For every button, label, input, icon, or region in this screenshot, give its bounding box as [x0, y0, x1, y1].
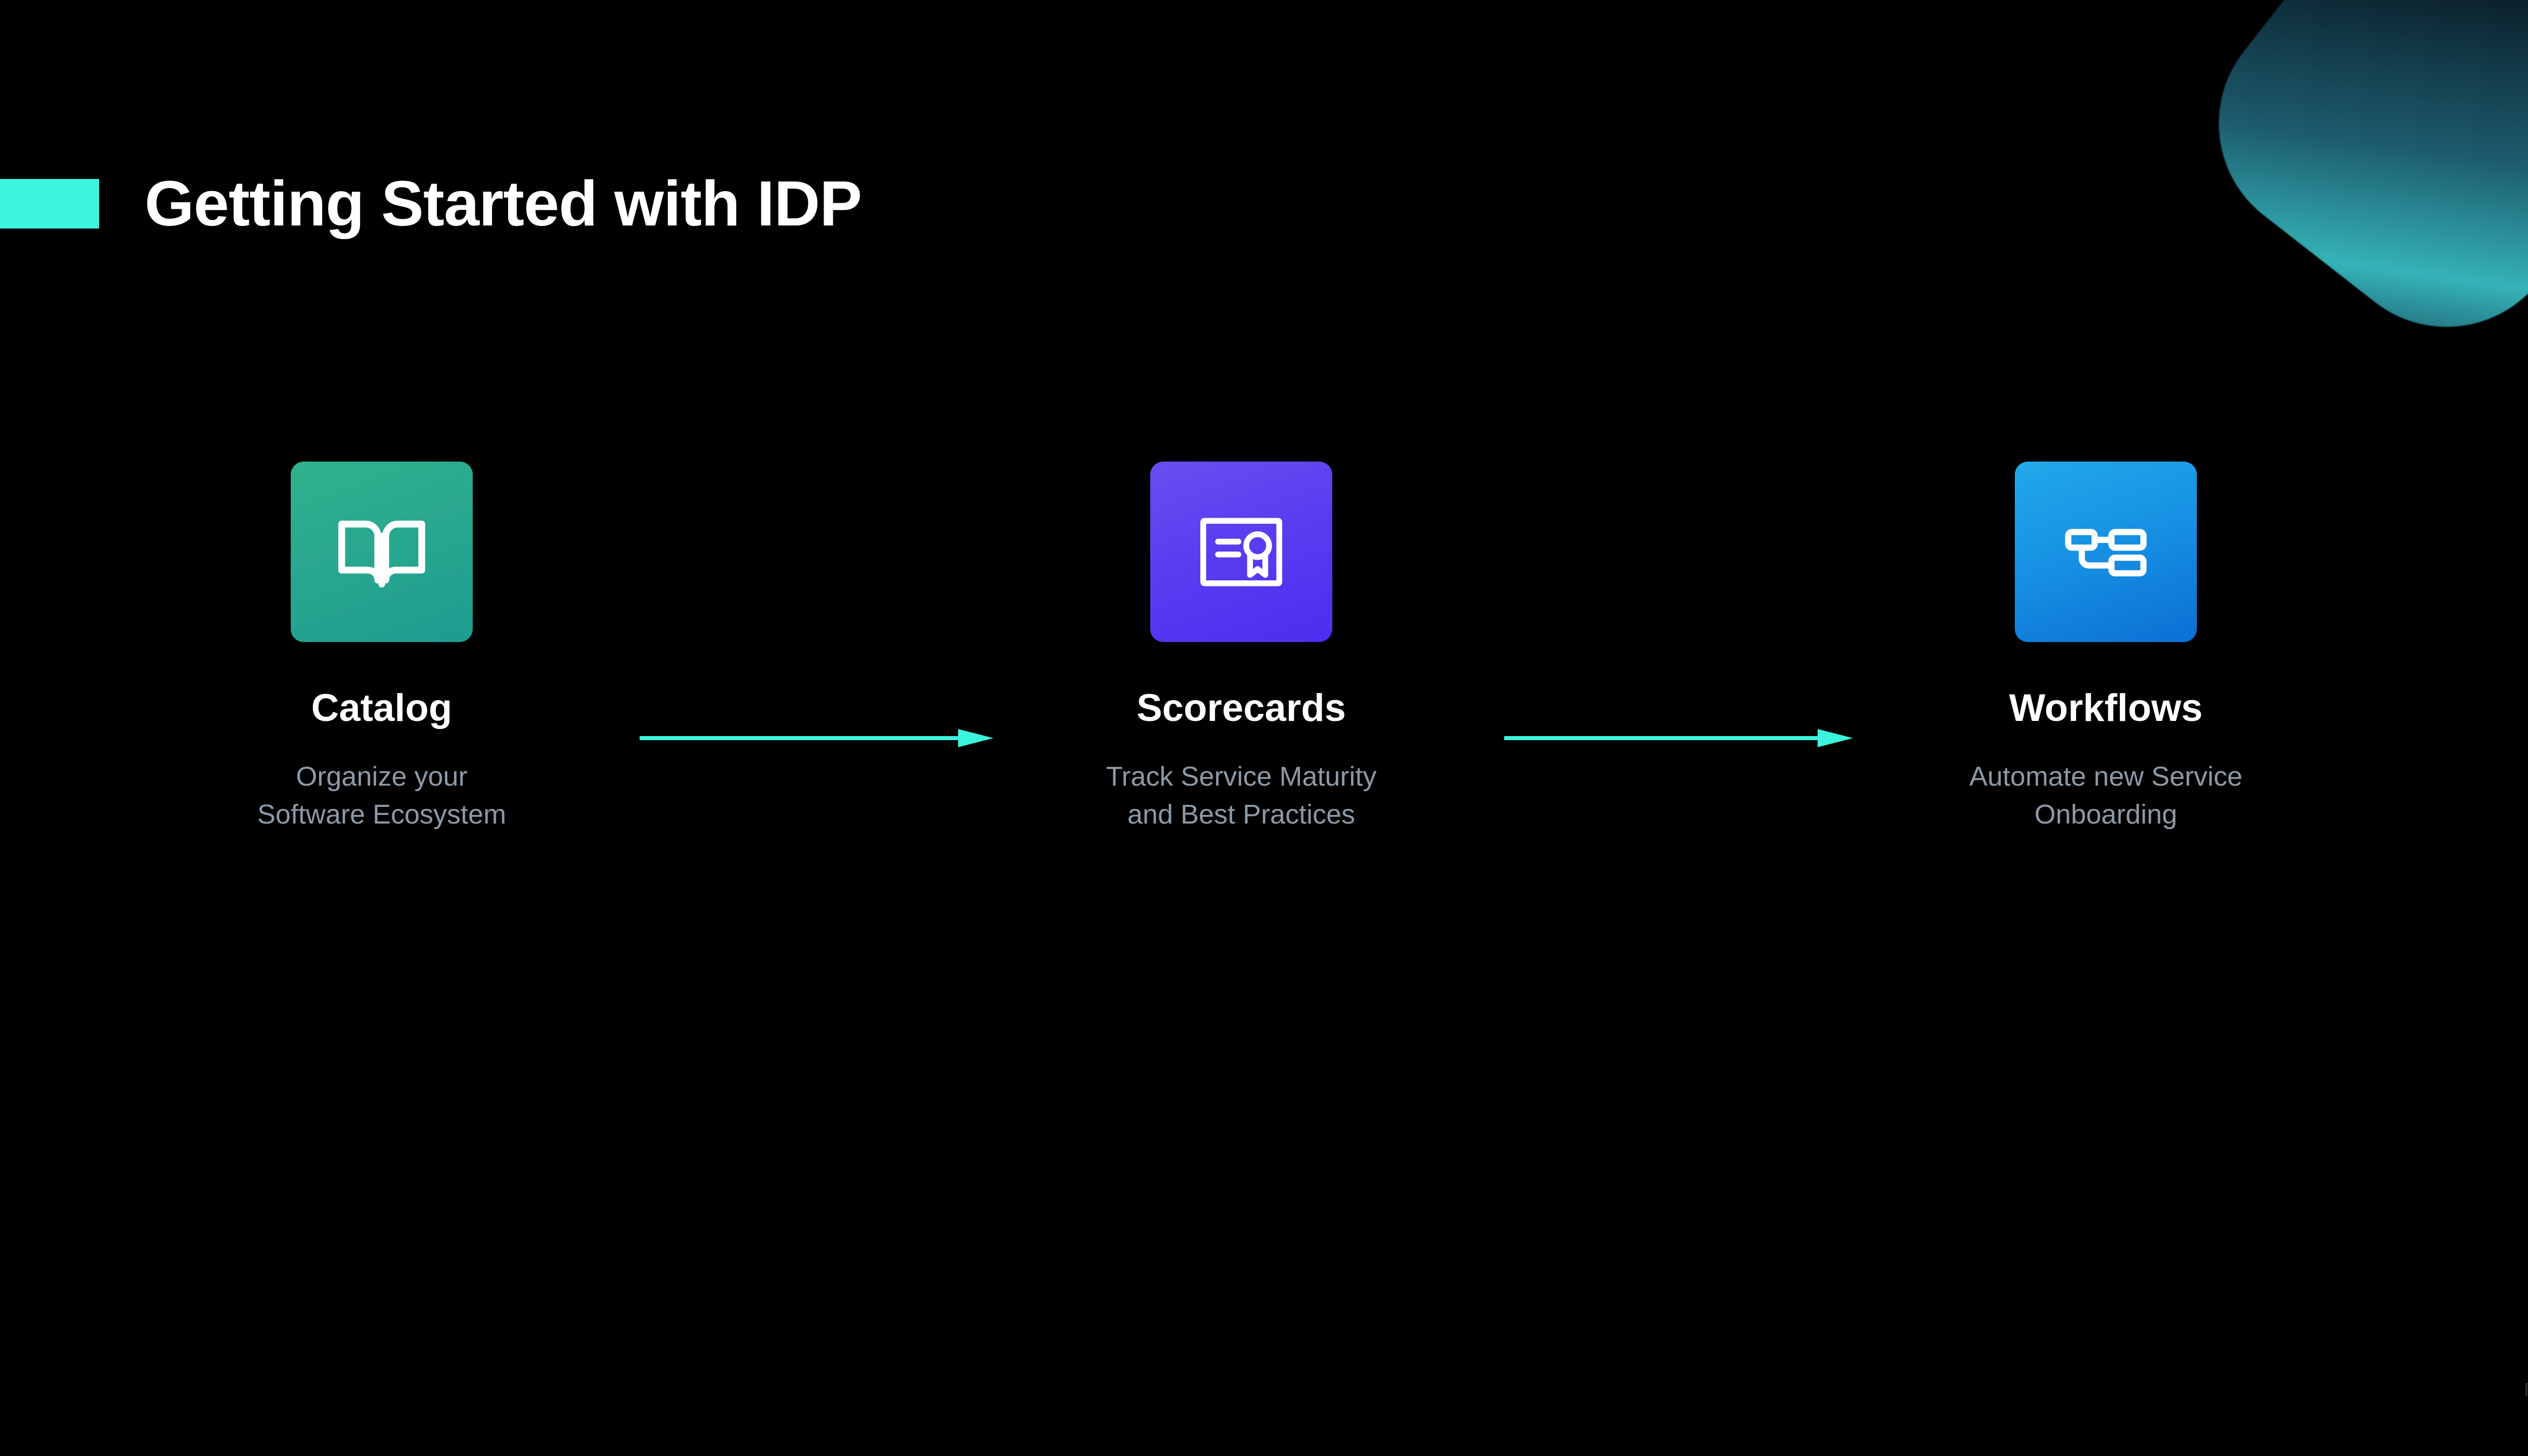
gradient-blob-decoration: [2172, 0, 2528, 374]
slide-header: Getting Started with IDP: [0, 172, 862, 236]
arrow-catalog-to-scorecards: [640, 725, 994, 751]
page-title: Getting Started with IDP: [145, 172, 862, 236]
step-description-line: Software Ecosystem: [129, 796, 635, 834]
step-description-line: Onboarding: [1853, 796, 2359, 834]
step-description-line: Track Service Maturity: [988, 758, 1494, 796]
step-title: Scorecards: [988, 689, 1494, 727]
step-title: Catalog: [129, 689, 635, 727]
title-accent-bar: [0, 179, 99, 229]
step-description: Organize your Software Ecosystem: [129, 758, 635, 833]
workflows-icon-tile[interactable]: [2015, 462, 2197, 642]
step-description: Automate new Service Onboarding: [1853, 758, 2359, 833]
step-workflows[interactable]: Workflows Automate new Service Onboardin…: [1853, 455, 2359, 833]
step-catalog[interactable]: Catalog Organize your Software Ecosystem: [129, 455, 635, 833]
catalog-icon-tile[interactable]: [291, 462, 473, 642]
page-number: P/1: [2524, 1380, 2528, 1401]
step-description-line: and Best Practices: [988, 796, 1494, 834]
step-description-line: Organize your: [129, 758, 635, 796]
slide-canvas: Getting Started with IDP Catalog Organiz…: [0, 0, 2528, 1456]
open-book-icon: [334, 504, 430, 600]
flowchart-nodes-icon: [2058, 504, 2154, 600]
step-scorecards[interactable]: Scorecards Track Service Maturity and Be…: [988, 455, 1494, 833]
step-description: Track Service Maturity and Best Practice…: [988, 758, 1494, 833]
step-description-line: Automate new Service: [1853, 758, 2359, 796]
steps-container: Catalog Organize your Software Ecosystem: [0, 455, 2528, 1011]
scorecards-icon-tile[interactable]: [1150, 462, 1332, 642]
arrow-scorecards-to-workflows: [1504, 725, 1853, 751]
step-title: Workflows: [1853, 689, 2359, 727]
certificate-award-icon: [1193, 504, 1289, 600]
